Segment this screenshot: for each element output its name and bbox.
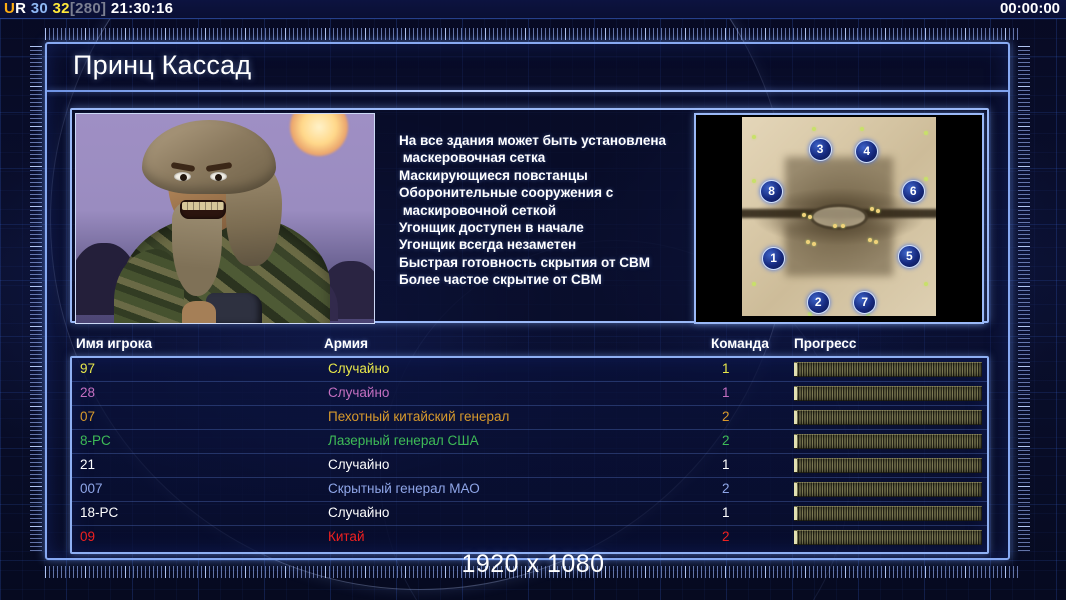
map-resource-marker — [752, 135, 756, 139]
player-team: 2 — [722, 529, 730, 544]
description-line: На все здания может быть установлена — [399, 132, 694, 149]
status-ur-r: R — [15, 0, 26, 17]
column-header-army: Армия — [324, 336, 368, 351]
ruler-top-major — [45, 28, 1020, 40]
map-resource-marker — [752, 179, 756, 183]
map-start-position-6[interactable]: 6 — [902, 180, 925, 203]
map-resource-marker — [808, 215, 812, 219]
map-resource-marker — [924, 177, 928, 181]
description-line: Угонщик всегда незаметен — [399, 236, 694, 253]
map-start-position-4[interactable]: 4 — [855, 140, 878, 163]
map-resource-marker — [870, 207, 874, 211]
player-progress-bar — [794, 410, 982, 425]
player-team: 2 — [722, 481, 730, 496]
map-resource-marker — [802, 213, 806, 217]
player-army: Случайно — [328, 385, 389, 400]
description-line: Более частое скрытие от СВМ — [399, 271, 694, 288]
description-line: Маскирующиеся повстанцы — [399, 167, 694, 184]
player-team: 2 — [722, 409, 730, 424]
general-description: На все здания может быть установлена мас… — [375, 110, 694, 321]
player-army: Случайно — [328, 361, 389, 376]
column-header-player-name: Имя игрока — [76, 336, 152, 351]
player-army: Китай — [328, 529, 365, 544]
map-resource-marker — [876, 209, 880, 213]
player-team: 1 — [722, 361, 730, 376]
game-lobby-screen: UR 30 32[280] 21:30:16 00:00:00 Принц Ка… — [0, 0, 1066, 600]
terrain-patch — [785, 224, 894, 276]
status-timer: 00:00:00 — [1000, 0, 1060, 19]
top-status-bar: UR 30 32[280] 21:30:16 00:00:00 — [0, 0, 1066, 19]
map-start-position-2[interactable]: 2 — [807, 291, 830, 314]
table-row[interactable]: 07Пехотный китайский генерал2 — [72, 406, 987, 430]
content-frame: На все здания может быть установлена мас… — [70, 108, 989, 323]
table-row[interactable]: 007Скрытный генерал МАО2 — [72, 478, 987, 502]
player-name: 09 — [80, 529, 95, 544]
table-row[interactable]: 09Китай2 — [72, 526, 987, 550]
player-progress-bar — [794, 434, 982, 449]
player-name: 007 — [80, 481, 103, 496]
status-players-online: 30 — [31, 0, 48, 17]
ruler-top — [45, 28, 1020, 40]
map-resource-marker — [752, 282, 756, 286]
soldier-pupil-left — [180, 174, 187, 181]
player-name: 8-PC — [80, 433, 111, 448]
ruler-left-major — [30, 46, 42, 554]
player-army: Скрытный генерал МАО — [328, 481, 480, 496]
map-resource-marker — [924, 282, 928, 286]
soldier-teeth — [182, 202, 224, 210]
table-row[interactable]: 21Случайно1 — [72, 454, 987, 478]
player-name: 07 — [80, 409, 95, 424]
player-progress-bar — [794, 530, 982, 545]
column-header-team: Команда — [711, 336, 769, 351]
page-title: Принц Кассад — [73, 50, 251, 81]
table-row[interactable]: 18-PCСлучайно1 — [72, 502, 987, 526]
column-header-progress: Прогресс — [794, 336, 856, 351]
status-bar-left: UR 30 32[280] 21:30:16 — [4, 0, 173, 19]
player-army: Случайно — [328, 505, 389, 520]
player-army: Пехотный китайский генерал — [328, 409, 509, 424]
resolution-label: 1920 x 1080 — [0, 550, 1066, 579]
player-team: 1 — [722, 505, 730, 520]
status-ur-u: U — [4, 0, 15, 17]
player-team: 1 — [722, 385, 730, 400]
players-table: 97Случайно128Случайно107Пехотный китайск… — [70, 356, 989, 554]
player-name: 18-PC — [80, 505, 118, 520]
map-center-lake — [810, 204, 868, 230]
general-portrait — [75, 113, 375, 324]
player-team: 1 — [722, 457, 730, 472]
status-games-count: 32 — [53, 0, 70, 17]
map-start-position-5[interactable]: 5 — [898, 245, 921, 268]
ruler-left — [30, 46, 42, 554]
map-start-position-1[interactable]: 1 — [762, 247, 785, 270]
player-progress-bar — [794, 386, 982, 401]
map-start-position-3[interactable]: 3 — [809, 138, 832, 161]
terrain-patch — [785, 157, 894, 209]
players-table-header: Имя игрока Армия Команда Прогресс — [70, 336, 989, 358]
player-progress-bar — [794, 458, 982, 473]
player-army: Лазерный генерал США — [328, 433, 479, 448]
minimap[interactable]: 12345678 — [742, 117, 936, 316]
player-name: 21 — [80, 457, 95, 472]
description-line: Угонщик доступен в начале — [399, 219, 694, 236]
player-progress-bar — [794, 506, 982, 521]
map-resource-marker — [924, 131, 928, 135]
description-line: Быстрая готовность скрытия от СВМ — [399, 254, 694, 271]
status-clock: 21:30:16 — [111, 0, 173, 17]
player-army: Случайно — [328, 457, 389, 472]
map-start-position-7[interactable]: 7 — [853, 291, 876, 314]
minimap-panel: 12345678 — [694, 113, 984, 324]
description-line: маскировочной сеткой — [399, 202, 694, 219]
ruler-right-major — [1018, 46, 1030, 554]
title-divider — [47, 90, 1008, 92]
map-start-position-8[interactable]: 8 — [760, 180, 783, 203]
player-name: 28 — [80, 385, 95, 400]
map-resource-marker — [808, 312, 812, 316]
player-name: 97 — [80, 361, 95, 376]
status-bracket-count: [280] — [70, 0, 107, 17]
main-panel: Принц Кассад — [45, 42, 1010, 560]
ruler-right — [1018, 46, 1030, 554]
soldier-hand — [182, 301, 216, 324]
sun-icon — [290, 113, 348, 156]
map-resource-marker — [812, 127, 816, 131]
soldier-headwrap — [142, 120, 276, 194]
map-resource-marker — [860, 127, 864, 131]
table-row[interactable]: 28Случайно1 — [72, 382, 987, 406]
table-row[interactable]: 97Случайно1 — [72, 358, 987, 382]
description-line: маскеровочная сетка — [399, 149, 694, 166]
player-team: 2 — [722, 433, 730, 448]
description-line: Оборонительные сооружения с — [399, 184, 694, 201]
player-progress-bar — [794, 482, 982, 497]
player-progress-bar — [794, 362, 982, 377]
soldier-pupil-right — [215, 174, 222, 181]
table-row[interactable]: 8-PCЛазерный генерал США2 — [72, 430, 987, 454]
